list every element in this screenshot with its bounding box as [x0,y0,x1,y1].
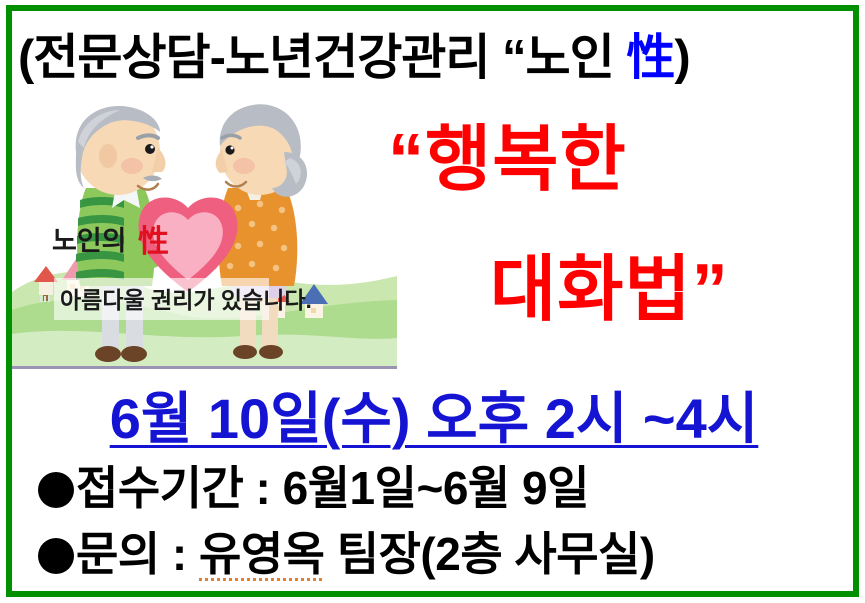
bullet-dot-icon [38,472,74,508]
registration-period-text: 접수기간 : 6월1일~6월 9일 [76,462,589,514]
header-text-after: ) [674,31,689,85]
contact-person-name: 유영옥 [199,528,324,580]
event-datetime: 6월 10일(수) 오후 2시 ~4시 [24,374,844,455]
bullet-dot-icon [38,538,74,574]
header-text-before: (전문상담-노년건강관리 “노인 [18,31,626,85]
title-line-1: “행복한 [388,122,627,198]
illustration-bottom-divider [12,366,397,369]
contact-label: 문의 [76,528,160,580]
heart-caption-black: 노인의 [52,226,127,256]
contact-separator: : [160,528,199,580]
title-line-2: 대화법” [490,252,729,328]
registration-period-line: 접수기간 : 6월1일~6월 9일 [38,452,838,518]
header-blue-hanja: 性 [626,31,674,85]
poster-root: (전문상담-노년건강관리 “노인 性) [0,0,865,603]
heart-caption-red: 性 [138,224,169,259]
elderly-couple-illustration: 노인의 性 아름다울 권리가 있습니다. [12,96,397,368]
contact-line: 문의 : 유영옥 팀장(2층 사무실) [38,518,838,584]
illustration-banner-text: 아름다울 권리가 있습니다. [60,287,312,313]
contact-rest: 팀장(2층 사무실) [325,528,655,580]
header-subtitle: (전문상담-노년건강관리 “노인 性) [18,24,848,92]
